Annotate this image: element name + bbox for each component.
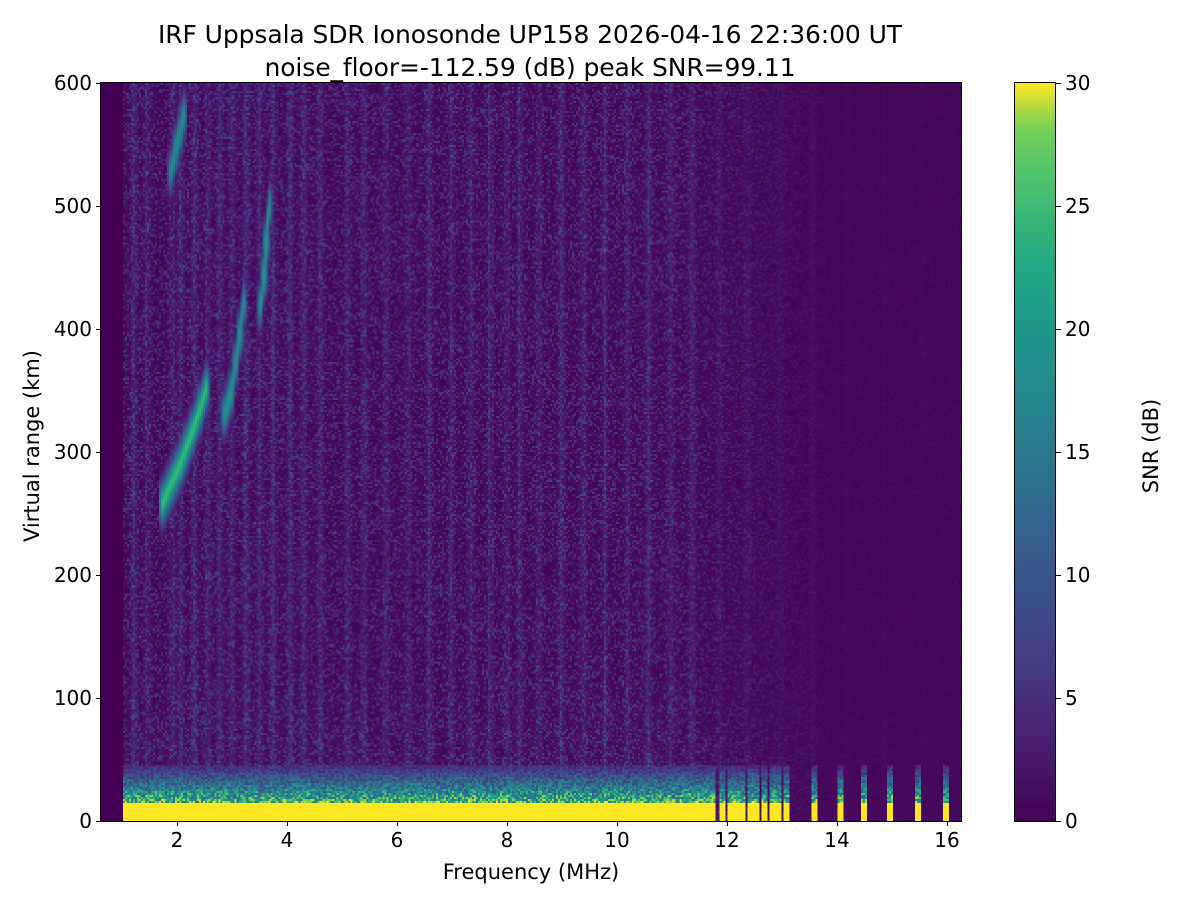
yticklabel-600: 600: [54, 71, 92, 95]
xtick-8: [507, 822, 508, 826]
ytick-300: [96, 452, 100, 453]
xtick-4: [287, 822, 288, 826]
colorbar-label: SNR (dB): [1139, 76, 1163, 816]
cbtick-15: [1056, 452, 1061, 453]
xticklabel-2: 2: [171, 828, 184, 852]
xticklabel-14: 14: [824, 828, 849, 852]
ytick-100: [96, 698, 100, 699]
xtick-6: [397, 822, 398, 826]
xtick-12: [727, 822, 728, 826]
y-axis-label: Virtual range (km): [20, 76, 44, 816]
figure-title: IRF Uppsala SDR Ionosonde UP158 2026-04-…: [0, 18, 1060, 84]
ytick-200: [96, 575, 100, 576]
yticklabel-0: 0: [79, 809, 92, 833]
xticklabel-10: 10: [604, 828, 629, 852]
title-line-2: noise_floor=-112.59 (dB) peak SNR=99.11: [0, 51, 1060, 84]
xticklabel-16: 16: [934, 828, 959, 852]
ytick-500: [96, 206, 100, 207]
xticklabel-12: 12: [714, 828, 739, 852]
ytick-400: [96, 329, 100, 330]
cbticklabel-15: 15: [1065, 440, 1090, 464]
cbtick-25: [1056, 206, 1061, 207]
yticklabel-300: 300: [54, 440, 92, 464]
cbticklabel-10: 10: [1065, 563, 1090, 587]
cbticklabel-25: 25: [1065, 194, 1090, 218]
xtick-16: [947, 822, 948, 826]
cbtick-0: [1056, 821, 1061, 822]
cbticklabel-5: 5: [1065, 686, 1078, 710]
yticklabel-200: 200: [54, 563, 92, 587]
ionogram-figure: IRF Uppsala SDR Ionosonde UP158 2026-04-…: [0, 0, 1200, 900]
ytick-0: [96, 821, 100, 822]
xticklabel-6: 6: [391, 828, 404, 852]
yticklabel-500: 500: [54, 194, 92, 218]
yticklabel-100: 100: [54, 686, 92, 710]
ionogram-axes: [100, 82, 962, 822]
cbticklabel-20: 20: [1065, 317, 1090, 341]
cbtick-5: [1056, 698, 1061, 699]
xtick-2: [177, 822, 178, 826]
cbtick-10: [1056, 575, 1061, 576]
xticklabel-4: 4: [281, 828, 294, 852]
cbticklabel-30: 30: [1065, 71, 1090, 95]
ionogram-heatmap: [101, 83, 961, 821]
xticklabel-8: 8: [501, 828, 514, 852]
cbtick-20: [1056, 329, 1061, 330]
cbticklabel-0: 0: [1065, 809, 1078, 833]
title-line-1: IRF Uppsala SDR Ionosonde UP158 2026-04-…: [158, 20, 902, 49]
xtick-14: [837, 822, 838, 826]
colorbar: [1014, 82, 1056, 822]
ytick-600: [96, 83, 100, 84]
cbtick-30: [1056, 83, 1061, 84]
xtick-10: [617, 822, 618, 826]
x-axis-label: Frequency (MHz): [100, 860, 962, 884]
yticklabel-400: 400: [54, 317, 92, 341]
